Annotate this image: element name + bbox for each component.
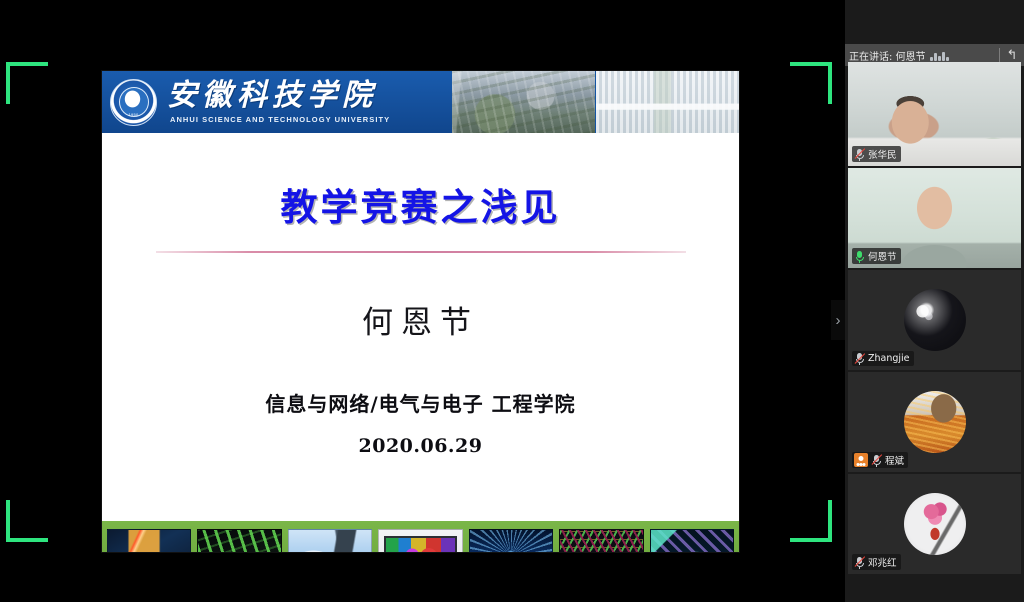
campus-aerial-photo	[452, 71, 595, 133]
participant-tile[interactable]: 程斌	[848, 372, 1021, 472]
presentation-slide: 1950 安徽科技学院 ANHUI SCIENCE AND TECHNOLOGY…	[102, 71, 739, 552]
university-name-block: 安徽科技学院 ANHUI SCIENCE AND TECHNOLOGY UNIV…	[167, 80, 390, 124]
audio-wave-icon	[930, 50, 995, 61]
university-logo-icon: 1950	[110, 79, 157, 126]
slide-department: 信息与网络/电气与电子 工程学院	[102, 388, 739, 417]
slide-author: 何恩节	[102, 297, 739, 342]
share-corner-bottom-right-icon	[790, 500, 832, 542]
avatar	[904, 289, 966, 351]
participant-name-tag: 何恩节	[852, 248, 901, 264]
microphone-muted-icon	[871, 454, 882, 467]
slide-banner: 1950 安徽科技学院 ANHUI SCIENCE AND TECHNOLOGY…	[102, 71, 739, 133]
participant-name-tag: Zhangjie	[852, 351, 914, 366]
microphone-muted-icon	[854, 148, 865, 161]
avatar	[904, 493, 966, 555]
thumbnail-color-display-monitor	[378, 529, 462, 553]
participant-tile[interactable]: 张华民	[848, 62, 1021, 166]
chevron-right-icon[interactable]: ›	[831, 300, 845, 340]
participant-tile[interactable]: 何恩节	[848, 168, 1021, 268]
slide-thumbnail-strip	[102, 521, 739, 552]
slide-title: 教学竞赛之浅见	[102, 177, 739, 231]
thumbnail-photonic-crystal-cube	[650, 529, 734, 553]
participant-tile[interactable]: 邓兆红	[848, 474, 1021, 574]
logo-year: 1950	[128, 112, 138, 117]
participant-name: 程斌	[885, 453, 904, 467]
share-corner-top-right-icon	[790, 62, 832, 104]
share-corner-bottom-left-icon	[6, 500, 48, 542]
participant-name: 何恩节	[868, 249, 897, 263]
thumbnail-laser-chip-illustration	[107, 529, 191, 553]
banner-photo-strip	[452, 71, 739, 133]
participant-name-tag: 邓兆红	[852, 554, 901, 570]
participant-name: 邓兆红	[868, 555, 897, 569]
campus-buildings-photo	[596, 71, 739, 133]
thumbnail-blue-energy-beam	[469, 529, 553, 553]
participant-tile[interactable]: Zhangjie	[848, 270, 1021, 370]
participant-panel: 正在讲话: 何恩节 ↰ 张华民 何恩节	[845, 0, 1024, 602]
toolbar-divider	[999, 48, 1000, 62]
university-name-cn: 安徽科技学院	[167, 80, 390, 112]
meeting-window: 1950 安徽科技学院 ANHUI SCIENCE AND TECHNOLOGY…	[0, 0, 1024, 602]
microphone-muted-icon	[854, 556, 865, 569]
thumbnail-stealth-aircraft-sensor	[288, 529, 372, 553]
slide-date: 2020.06.29	[102, 435, 739, 457]
slide-body: 教学竞赛之浅见 何恩节 信息与网络/电气与电子 工程学院 2020.06.29	[102, 177, 739, 552]
shared-screen-region: 1950 安徽科技学院 ANHUI SCIENCE AND TECHNOLOGY…	[0, 0, 845, 602]
share-corner-top-left-icon	[6, 62, 48, 104]
participant-name: Zhangjie	[868, 353, 910, 364]
title-divider	[156, 251, 686, 253]
participant-name: 张华民	[868, 147, 897, 161]
host-badge-icon	[854, 453, 868, 467]
microphone-on-icon	[854, 250, 865, 263]
avatar	[904, 391, 966, 453]
thumbnail-green-nanostructure-array	[197, 529, 281, 553]
thumbnail-graphene-lattice-model	[559, 529, 643, 553]
back-arrow-icon[interactable]: ↰	[1004, 47, 1020, 63]
microphone-muted-icon	[854, 352, 865, 365]
university-name-en: ANHUI SCIENCE AND TECHNOLOGY UNIVERSITY	[167, 115, 390, 124]
participant-name-tag: 程斌	[852, 452, 908, 468]
active-speaker-label: 正在讲话: 何恩节	[849, 48, 926, 63]
university-identity: 1950 安徽科技学院 ANHUI SCIENCE AND TECHNOLOGY…	[102, 71, 452, 133]
participant-name-tag: 张华民	[852, 146, 901, 162]
